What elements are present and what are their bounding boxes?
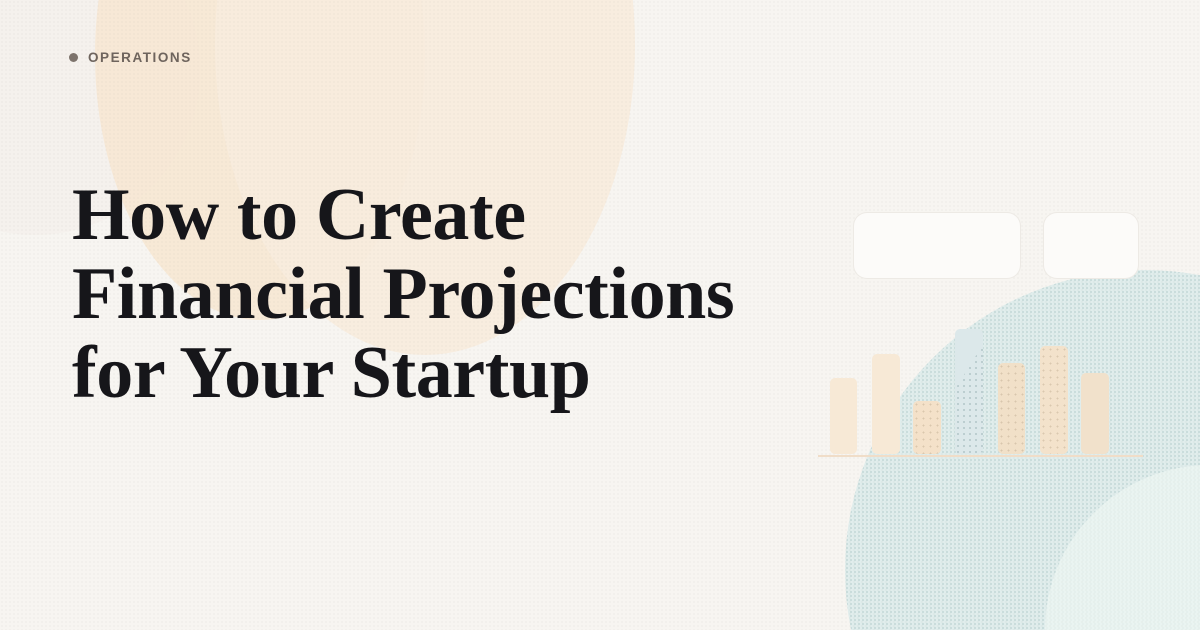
headline-line-1: How to Create xyxy=(72,176,772,255)
chart-bar xyxy=(998,363,1025,454)
placeholder-card-wide xyxy=(853,212,1021,279)
bullet-dot-icon xyxy=(69,53,78,62)
bar-dot-texture xyxy=(998,363,1025,454)
poster-canvas: OPERATIONS How to Create Financial Proje… xyxy=(0,0,1200,630)
chart-bar xyxy=(955,329,983,454)
bar-dot-texture xyxy=(1040,346,1068,454)
placeholder-card-narrow xyxy=(1043,212,1139,279)
chart-bar xyxy=(1081,373,1109,454)
page-title: How to Create Financial Projections for … xyxy=(72,176,772,413)
headline-line-3: for Your Startup xyxy=(72,334,772,413)
chart-bar xyxy=(830,378,857,454)
category-label: OPERATIONS xyxy=(88,50,192,65)
bar-dot-texture xyxy=(955,329,983,454)
bar-dot-texture xyxy=(913,401,941,454)
bar-chart-illustration xyxy=(810,190,1170,480)
chart-axis-line xyxy=(818,455,1143,457)
chart-bar xyxy=(1040,346,1068,454)
category-eyebrow: OPERATIONS xyxy=(69,50,192,65)
chart-bar xyxy=(872,354,900,454)
headline-line-2: Financial Projections xyxy=(72,255,772,334)
chart-bar xyxy=(913,401,941,454)
